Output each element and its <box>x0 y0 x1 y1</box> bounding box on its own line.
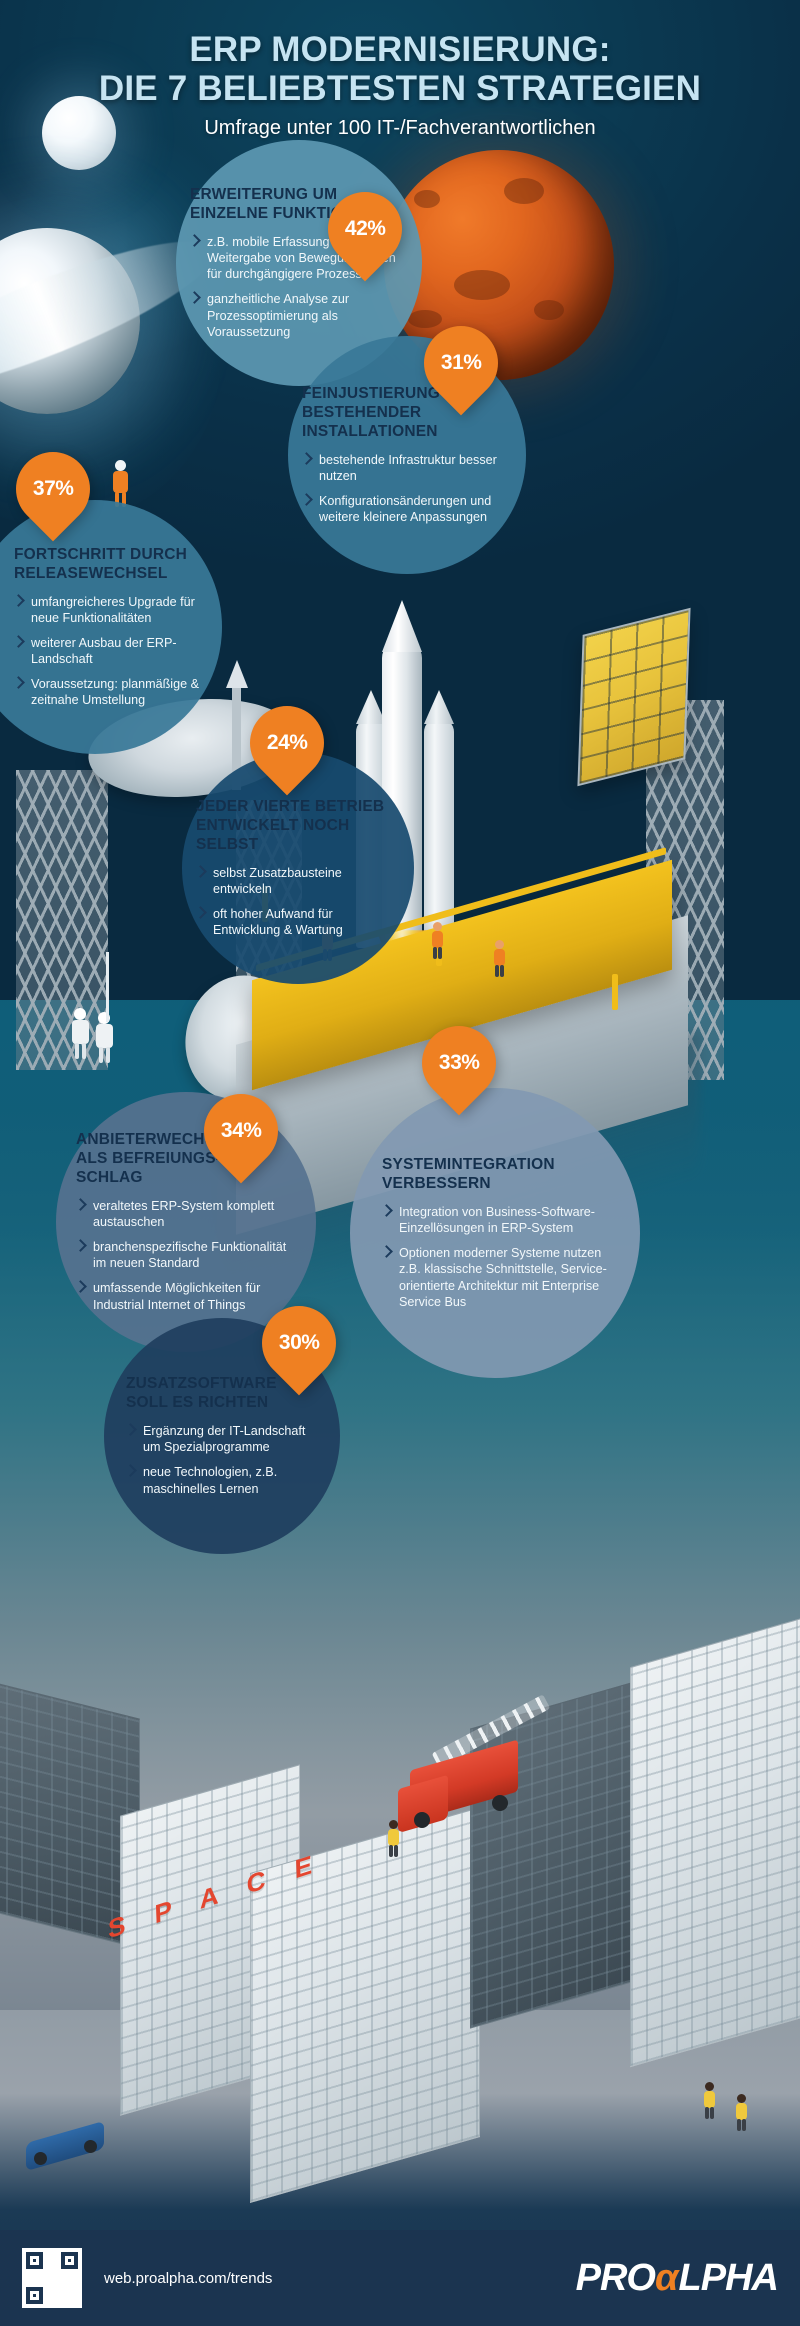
list-item: umfangreicheres Upgrade für neue Funktio… <box>14 594 212 626</box>
list-item: Ergänzung der IT-Landschaft um Spezialpr… <box>126 1423 326 1455</box>
bullet-text: Optionen moderner Systeme nutzen z.B. kl… <box>399 1246 607 1308</box>
bullet-text: umfassende Möglichkeiten für Industrial … <box>93 1281 260 1311</box>
fire-truck-wheel <box>414 1812 430 1828</box>
chevron-right-icon <box>194 906 207 919</box>
strategy-bubble-systemintegration[interactable]: SYSTEMINTEGRATION VERBESSERN Integration… <box>350 1088 640 1378</box>
strategy-bullet-list: veraltetes ERP-System komplett austausch… <box>76 1198 302 1313</box>
percent-value: 30% <box>279 1331 320 1355</box>
page-title-line2: DIE 7 BELIEBTESTEN STRATEGIEN <box>0 69 800 108</box>
list-item: neue Technologien, z.B. maschinelles Ler… <box>126 1464 326 1496</box>
chevron-right-icon <box>380 1245 393 1258</box>
title-line: SCHLAG <box>76 1169 302 1188</box>
page-subtitle: Umfrage unter 100 IT-/Fachverantwortlich… <box>0 117 800 140</box>
strategy-title: SYSTEMINTEGRATION VERBESSERN <box>382 1156 626 1194</box>
percent-value: 42% <box>345 217 386 241</box>
bullet-text: branchenspezifische Funktionalität im ne… <box>93 1240 286 1270</box>
strategy-bullet-list: bestehende Infrastruktur besser nutzen K… <box>302 452 512 525</box>
strategy-title: JEDER VIERTE BETRIEB ENTWICKELT NOCH SEL… <box>196 798 400 855</box>
bullet-text: selbst Zusatzbausteine entwickeln <box>213 866 342 896</box>
building <box>630 1613 800 2067</box>
list-item: branchenspezifische Funktionalität im ne… <box>76 1239 302 1271</box>
bullet-text: Konfigurationsänderungen und weitere kle… <box>319 494 491 524</box>
strategy-bullet-list: Ergänzung der IT-Landschaft um Spezialpr… <box>126 1423 326 1496</box>
list-item: bestehende Infrastruktur besser nutzen <box>302 452 512 484</box>
title-line: JEDER VIERTE BETRIEB <box>196 798 400 817</box>
chevron-right-icon <box>124 1423 137 1436</box>
list-item: Konfigurationsänderungen und weitere kle… <box>302 493 512 525</box>
chevron-right-icon <box>194 865 207 878</box>
list-item: umfassende Möglichkeiten für Industrial … <box>76 1280 302 1312</box>
fire-truck-wheel <box>492 1795 508 1811</box>
percent-value: 34% <box>221 1119 262 1143</box>
chevron-right-icon <box>300 493 313 506</box>
qr-eye <box>61 2252 78 2269</box>
qr-code-pattern <box>25 2251 79 2305</box>
list-item: oft hoher Aufwand für Entwicklung & Wart… <box>196 906 400 938</box>
chevron-right-icon <box>188 292 201 305</box>
bullet-text: oft hoher Aufwand für Entwicklung & Wart… <box>213 907 343 937</box>
bullet-text: bestehende Infrastruktur besser nutzen <box>319 453 497 483</box>
chevron-right-icon <box>12 635 25 648</box>
list-item: weiterer Ausbau der ERP-Landschaft <box>14 635 212 667</box>
strategy-bullet-list: umfangreicheres Upgrade für neue Funktio… <box>14 594 212 709</box>
lattice-tower <box>16 770 108 1070</box>
percent-value: 33% <box>439 1051 480 1075</box>
footer: web.proalpha.com/trends PRO α LPHA <box>0 2230 800 2326</box>
bullet-text: ganzheitliche Analyse zur Prozessoptimie… <box>207 292 349 338</box>
chevron-right-icon <box>124 1465 137 1478</box>
logo-alpha-glyph: α <box>655 2257 679 2300</box>
bullet-text: Integration von Business-Software-Einzel… <box>399 1205 595 1235</box>
title-line: FORTSCHRITT DURCH <box>14 546 212 565</box>
infographic-root: S P A C E ERP MODERNISIERUNG: DIE 7 BELI… <box>0 0 800 2326</box>
title-line: BESTEHENDER <box>302 404 512 423</box>
window-grid <box>631 1614 800 2066</box>
title-line: INSTALLATIONEN <box>302 423 512 442</box>
header: ERP MODERNISIERUNG: DIE 7 BELIEBTESTEN S… <box>0 30 800 140</box>
list-item: selbst Zusatzbausteine entwickeln <box>196 865 400 897</box>
chevron-right-icon <box>188 234 201 247</box>
chevron-right-icon <box>74 1239 87 1252</box>
title-line: SYSTEMINTEGRATION <box>382 1156 626 1175</box>
chevron-right-icon <box>74 1198 87 1211</box>
page-title-line1: ERP MODERNISIERUNG: <box>0 30 800 69</box>
qr-code[interactable] <box>22 2248 82 2308</box>
flag-pole <box>106 952 109 1022</box>
title-line: ENTWICKELT NOCH <box>196 817 400 836</box>
chevron-right-icon <box>12 594 25 607</box>
list-item: ganzheitliche Analyse zur Prozessoptimie… <box>190 291 408 339</box>
percent-value: 24% <box>267 731 308 755</box>
car-wheel <box>34 2152 47 2165</box>
list-item: Optionen moderner Systeme nutzen z.B. kl… <box>382 1245 626 1309</box>
title-line: SOLL ES RICHTEN <box>126 1394 326 1413</box>
bullet-text: veraltetes ERP-System komplett austausch… <box>93 1199 274 1229</box>
logo-text-pro: PRO <box>576 2257 655 2300</box>
strategy-bubble-eigenentwicklung[interactable]: JEDER VIERTE BETRIEB ENTWICKELT NOCH SEL… <box>182 752 414 984</box>
list-item: veraltetes ERP-System komplett austausch… <box>76 1198 302 1230</box>
logo-text-lpha: LPHA <box>679 2257 778 2300</box>
bullet-text: umfangreicheres Upgrade für neue Funktio… <box>31 595 195 625</box>
strategy-bullet-list: Integration von Business-Software-Einzel… <box>382 1204 626 1310</box>
building <box>0 1681 140 1948</box>
bullet-text: weiterer Ausbau der ERP-Landschaft <box>31 636 177 666</box>
proalpha-logo: PRO α LPHA <box>576 2257 778 2300</box>
window-grid <box>0 1683 139 1948</box>
percent-value: 31% <box>441 351 482 375</box>
strategy-bullet-list: selbst Zusatzbausteine entwickeln oft ho… <box>196 865 400 938</box>
list-item: Integration von Business-Software-Einzel… <box>382 1204 626 1236</box>
bullet-text: Voraussetzung: planmäßige & zeitnahe Ums… <box>31 677 199 707</box>
bullet-text: neue Technologien, z.B. maschinelles Ler… <box>143 1465 277 1495</box>
strategy-title: FORTSCHRITT DURCH RELEASEWECHSEL <box>14 546 212 584</box>
footer-url[interactable]: web.proalpha.com/trends <box>104 2270 272 2287</box>
title-line: RELEASEWECHSEL <box>14 565 212 584</box>
chevron-right-icon <box>12 676 25 689</box>
title-line: VERBESSERN <box>382 1175 626 1194</box>
chevron-right-icon <box>74 1281 87 1294</box>
qr-eye <box>26 2287 43 2304</box>
bullet-text: Ergänzung der IT-Landschaft um Spezialpr… <box>143 1424 305 1454</box>
platform-railing <box>612 974 618 1010</box>
list-item: Voraussetzung: planmäßige & zeitnahe Ums… <box>14 676 212 708</box>
percent-value: 37% <box>33 477 74 501</box>
qr-eye <box>26 2252 43 2269</box>
solar-panel-array <box>577 608 690 787</box>
chevron-right-icon <box>300 452 313 465</box>
title-line: SELBST <box>196 836 400 855</box>
car-wheel <box>84 2140 97 2153</box>
chevron-right-icon <box>380 1204 393 1217</box>
